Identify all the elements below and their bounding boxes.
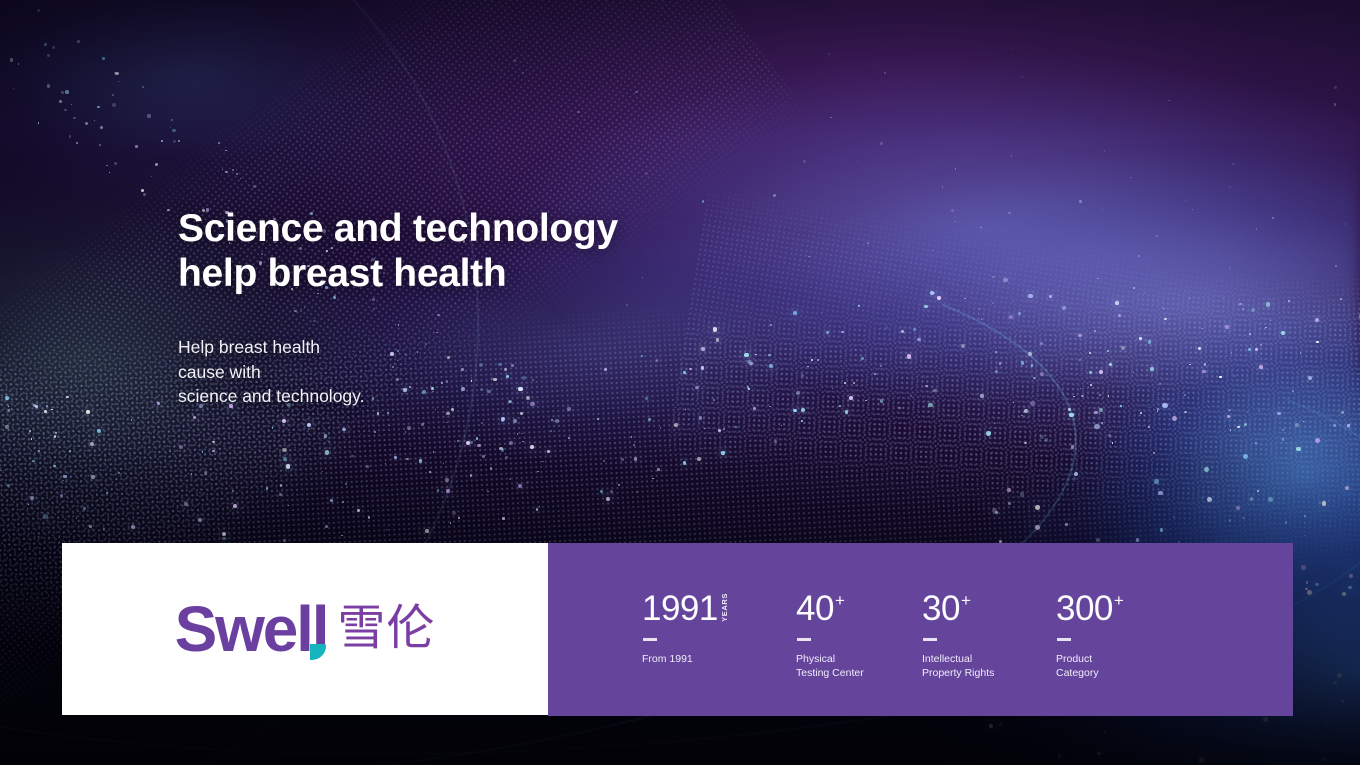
stat-value-suffix: + xyxy=(835,592,845,609)
logo-chinese-name: 雪伦 xyxy=(337,605,435,653)
logo-panel: Swell 雪伦 xyxy=(62,543,548,715)
stat-value: 40 xyxy=(796,591,834,626)
stat-value-suffix: + xyxy=(1114,592,1124,609)
hero-subtext: Help breast health cause with science an… xyxy=(178,335,618,409)
stat-value-row: 300+ xyxy=(1056,591,1124,626)
logo-wordmark-text: Swell xyxy=(175,593,328,665)
stat-value-row: 40+ xyxy=(796,591,864,626)
stat-label: Physical Testing Center xyxy=(796,652,864,680)
stat-item: 30+Intellectual Property Rights xyxy=(922,591,994,680)
stat-label: Intellectual Property Rights xyxy=(922,652,994,680)
logo-wordmark: Swell xyxy=(175,597,328,661)
stat-value: 30 xyxy=(922,591,960,626)
stat-vertical-tag: YEARS xyxy=(721,593,729,622)
stat-value: 1991 xyxy=(642,591,718,626)
stat-value-row: 30+ xyxy=(922,591,994,626)
page-title: Science and technology help breast healt… xyxy=(178,206,618,296)
brand-logo[interactable]: Swell 雪伦 xyxy=(175,597,436,661)
stat-value: 300 xyxy=(1056,591,1113,626)
stat-item: 40+Physical Testing Center xyxy=(796,591,864,680)
hero-copy-block: Science and technology help breast healt… xyxy=(178,206,618,409)
headline-line-1: Science and technology xyxy=(178,207,618,250)
subtext-line-3: science and technology. xyxy=(178,386,364,406)
stat-label: Product Category xyxy=(1056,652,1124,680)
stat-value-suffix: + xyxy=(961,592,971,609)
stat-item: 1991YEARSFrom 1991 xyxy=(642,591,728,666)
subtext-line-1: Help breast health xyxy=(178,337,320,357)
slide-canvas: Science and technology help breast healt… xyxy=(0,0,1360,765)
stat-divider xyxy=(643,638,657,641)
stat-divider xyxy=(797,638,811,641)
stat-label: From 1991 xyxy=(642,652,728,666)
stat-value-row: 1991YEARS xyxy=(642,591,728,626)
stats-panel: 1991YEARSFrom 199140+Physical Testing Ce… xyxy=(548,543,1293,716)
headline-line-2: help breast health xyxy=(178,252,506,295)
subtext-line-2: cause with xyxy=(178,362,261,382)
stat-divider xyxy=(923,638,937,641)
stat-divider xyxy=(1057,638,1071,641)
stat-item: 300+Product Category xyxy=(1056,591,1124,680)
